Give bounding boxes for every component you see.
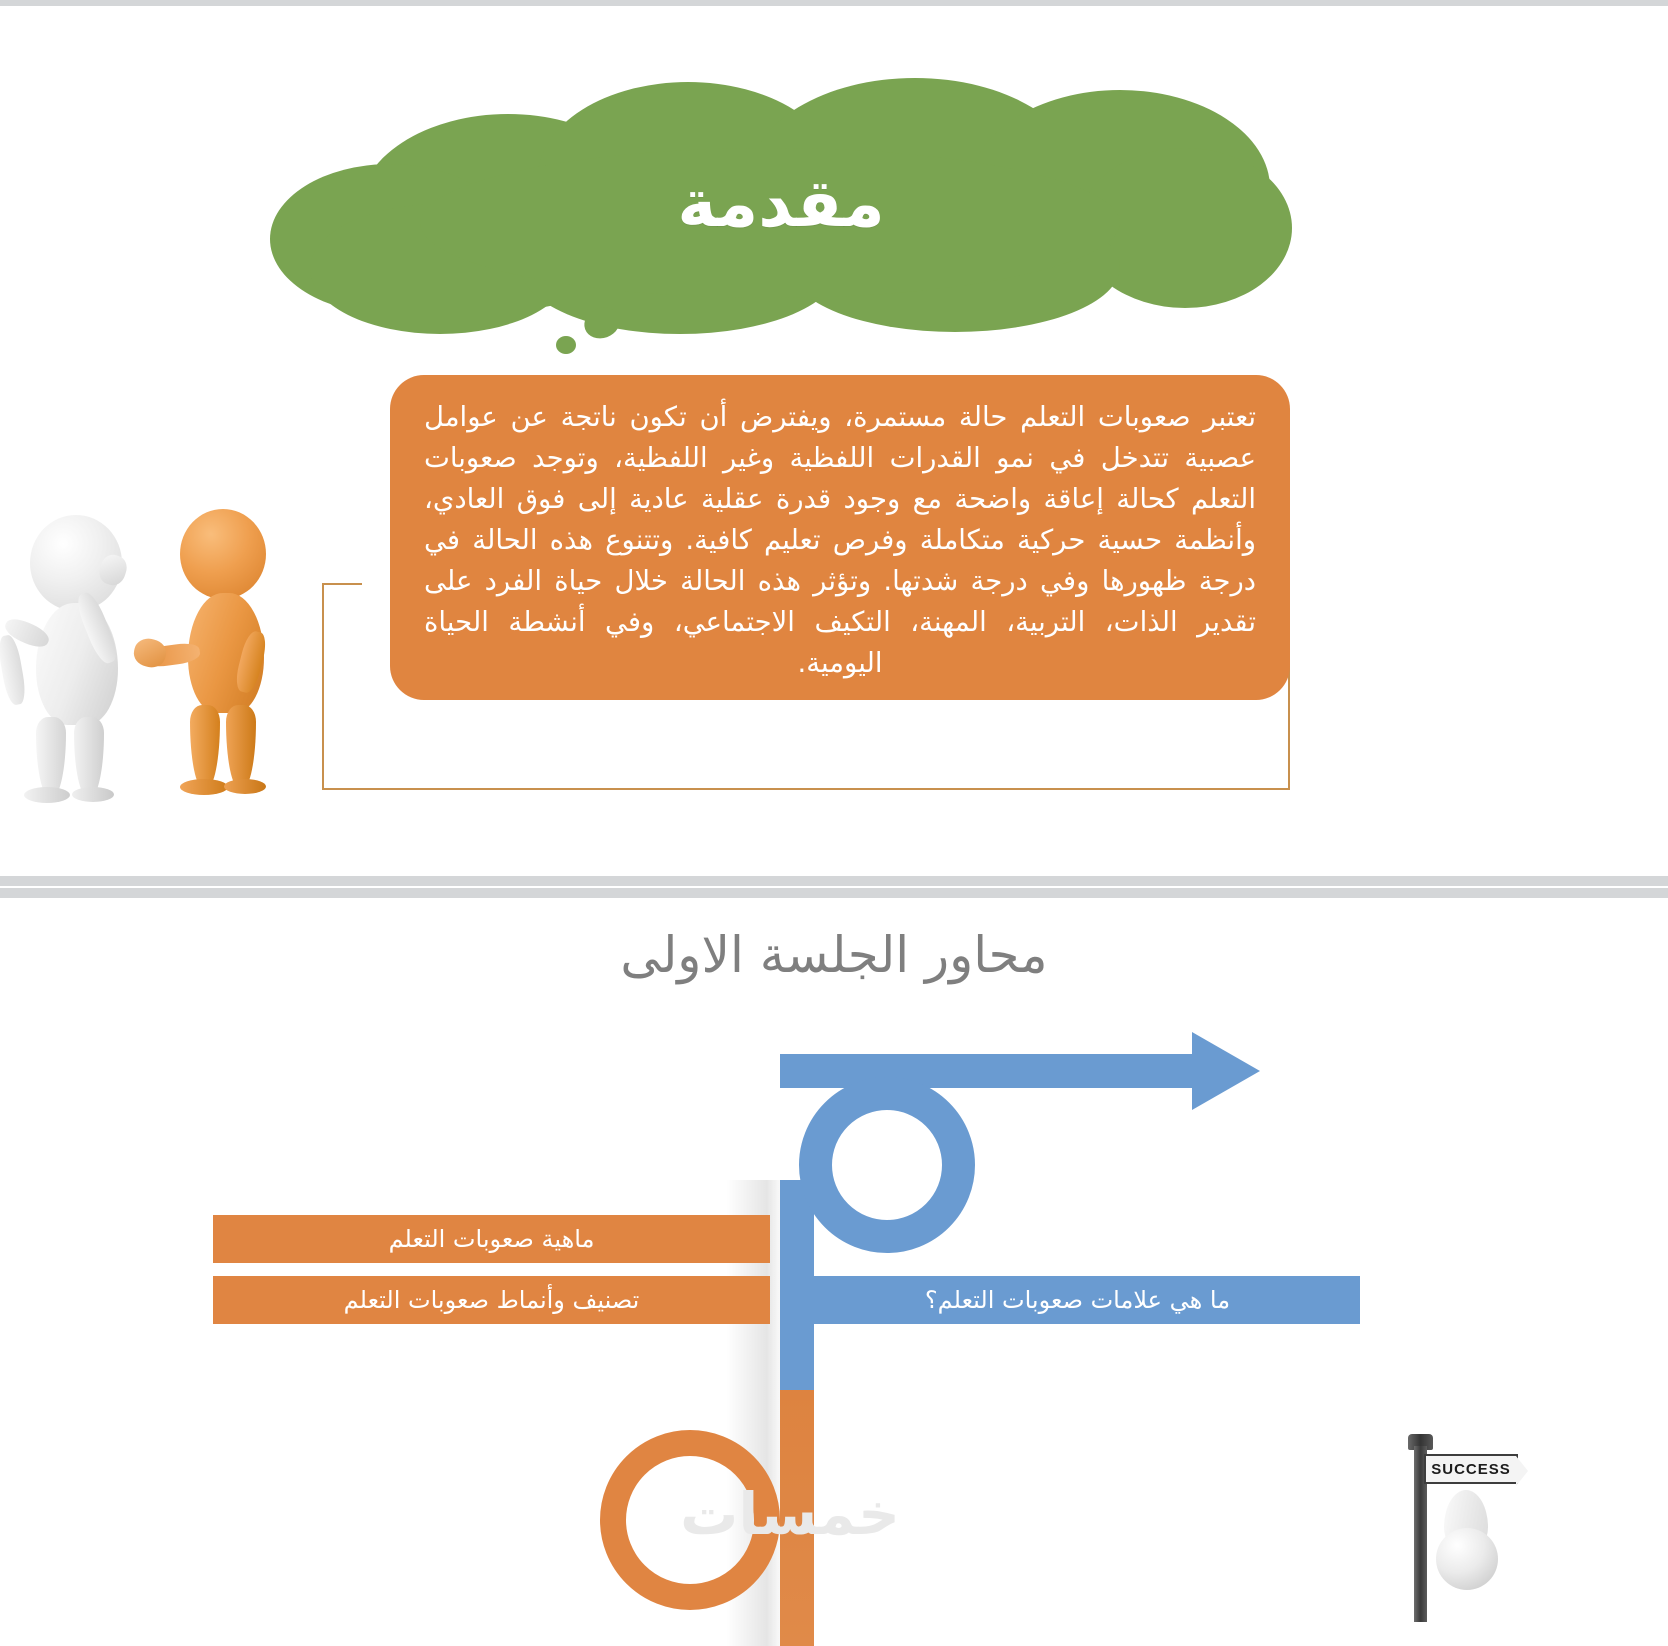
- blue-arrow-shaft: [780, 1054, 1200, 1088]
- presentation-page: مقدمة تعتبر صعوبات التعلم حالة مستمرة، و…: [0, 0, 1668, 1646]
- slide1-bottom-rule: [0, 876, 1668, 886]
- slide-1: مقدمة تعتبر صعوبات التعلم حالة مستمرة، و…: [0, 0, 1668, 888]
- blue-circle-node: [799, 1077, 975, 1253]
- topic-bar-2-label: تصنيف وأنماط صعوبات التعلم: [344, 1286, 640, 1314]
- topic-bar-1[interactable]: ماهية صعوبات التعلم: [213, 1215, 770, 1263]
- blue-arrow-head-icon: [1192, 1032, 1260, 1110]
- slide1-body-textbox: تعتبر صعوبات التعلم حالة مستمرة، ويفترض …: [390, 375, 1290, 700]
- thought-cloud-shape: مقدمة: [270, 78, 1292, 328]
- grey-figure-right-leg: [74, 717, 104, 797]
- slide1-title: مقدمة: [270, 78, 1292, 328]
- orange-figure-left-foot: [180, 779, 228, 795]
- slide2-title: محاور الجلسة الاولى: [0, 926, 1668, 984]
- grey-figure-right-foot: [72, 787, 114, 802]
- grey-figure-left-forearm: [0, 634, 28, 706]
- slide1-top-rule: [0, 0, 1668, 6]
- grey-figure-left-leg: [36, 717, 66, 797]
- orange-figure-left-leg: [190, 705, 220, 789]
- topic-bar-1-label: ماهية صعوبات التعلم: [389, 1225, 595, 1253]
- success-signpost-illustration: SUCCESS: [1378, 1418, 1518, 1628]
- signpost-sign: SUCCESS: [1424, 1454, 1518, 1484]
- topic-bar-2[interactable]: تصنيف وأنماط صعوبات التعلم: [213, 1276, 770, 1324]
- signpost-figure-head-icon: [1436, 1528, 1498, 1590]
- topic-bar-3[interactable]: ما هي علامات صعوبات التعلم؟: [795, 1276, 1360, 1324]
- watermark-text: خمسات: [660, 1480, 920, 1548]
- orange-figure-right-foot: [224, 779, 266, 794]
- orange-figure-head-icon: [180, 509, 266, 599]
- topic-bar-3-label: ما هي علامات صعوبات التعلم؟: [925, 1286, 1230, 1314]
- cloud-tail-bubble-small: [556, 336, 576, 354]
- grey-figure-left-foot: [24, 787, 70, 803]
- slide2-top-rule: [0, 888, 1668, 898]
- orange-figure-right-leg: [226, 705, 256, 789]
- 3d-characters-illustration: [8, 495, 263, 795]
